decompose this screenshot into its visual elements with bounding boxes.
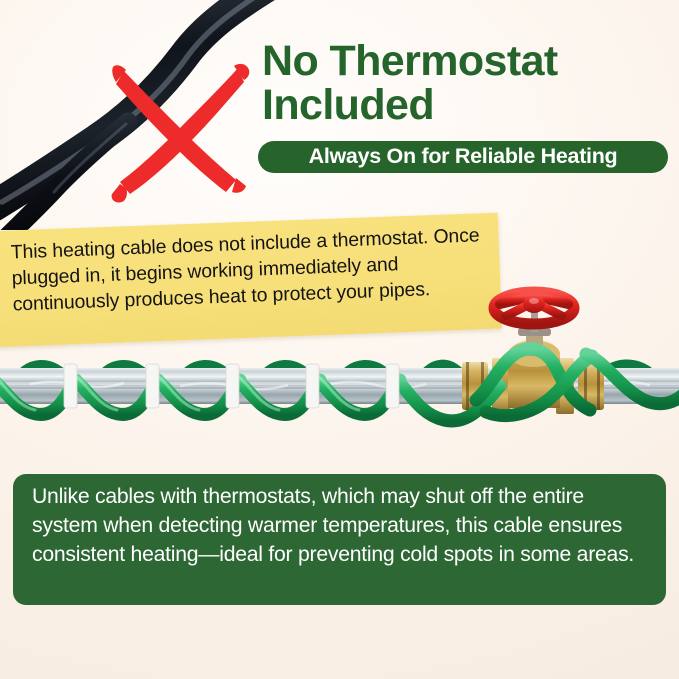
valve-bonnet: [508, 341, 560, 367]
red-x-tip-b: [232, 178, 246, 193]
strap-1: [64, 364, 77, 408]
red-x-tip-c: [234, 64, 249, 80]
yellow-callout-text: This heating cable does not include a th…: [10, 222, 483, 318]
valve-stem: [531, 310, 538, 332]
valve-body: [508, 340, 560, 408]
strap-4: [306, 364, 319, 408]
heating-cable-front-loops: [0, 349, 679, 421]
status-badge: Always On for Reliable Heating: [258, 141, 668, 173]
pipe-body: [0, 368, 679, 404]
cable-branch: [6, 122, 128, 230]
red-x-tip-a: [112, 65, 126, 82]
page-title: No Thermostat Included: [262, 40, 674, 128]
red-x-mark: [112, 64, 250, 203]
red-x-stroke-1: [116, 71, 236, 192]
green-callout-box: Unlike cables with thermostats, which ma…: [13, 474, 666, 605]
strap-3: [226, 364, 239, 408]
red-x-stroke-2: [120, 68, 244, 194]
strap-2: [146, 364, 159, 408]
white-cable-straps: [64, 364, 399, 408]
pipe-surface-detail: [0, 382, 679, 389]
valve-packing-nut: [518, 328, 551, 336]
badge-label: Always On for Reliable Heating: [309, 144, 618, 169]
green-callout-text: Unlike cables with thermostats, which ma…: [32, 483, 654, 569]
cable-valve-loop-a: [476, 349, 590, 410]
valve-stem-housing: [526, 332, 543, 356]
cable-branch-highlight: [54, 124, 126, 192]
cable-valve-loop-b: [486, 356, 592, 416]
heating-cable-rear-loops: [14, 365, 656, 386]
valve-nut-left: [462, 362, 488, 410]
yellow-callout-box: This heating cable does not include a th…: [0, 213, 502, 348]
product-infographic: No Thermostat Included Always On for Rel…: [0, 0, 679, 679]
headline-line-2: Included: [262, 84, 674, 128]
red-x-tip-d: [112, 184, 127, 203]
valve-handwheel: [494, 292, 574, 324]
strap-5: [386, 364, 399, 408]
cable-main-body: [0, 0, 268, 206]
cable-highlight: [2, 0, 265, 202]
valve-nut-right: [578, 362, 604, 410]
valve-union-left: [492, 358, 510, 414]
valve-union-right: [556, 358, 574, 414]
thermostat-cable-illustration: [0, 0, 300, 230]
cable-valve-loop-c: [586, 354, 679, 404]
headline-line-1: No Thermostat: [262, 40, 674, 84]
